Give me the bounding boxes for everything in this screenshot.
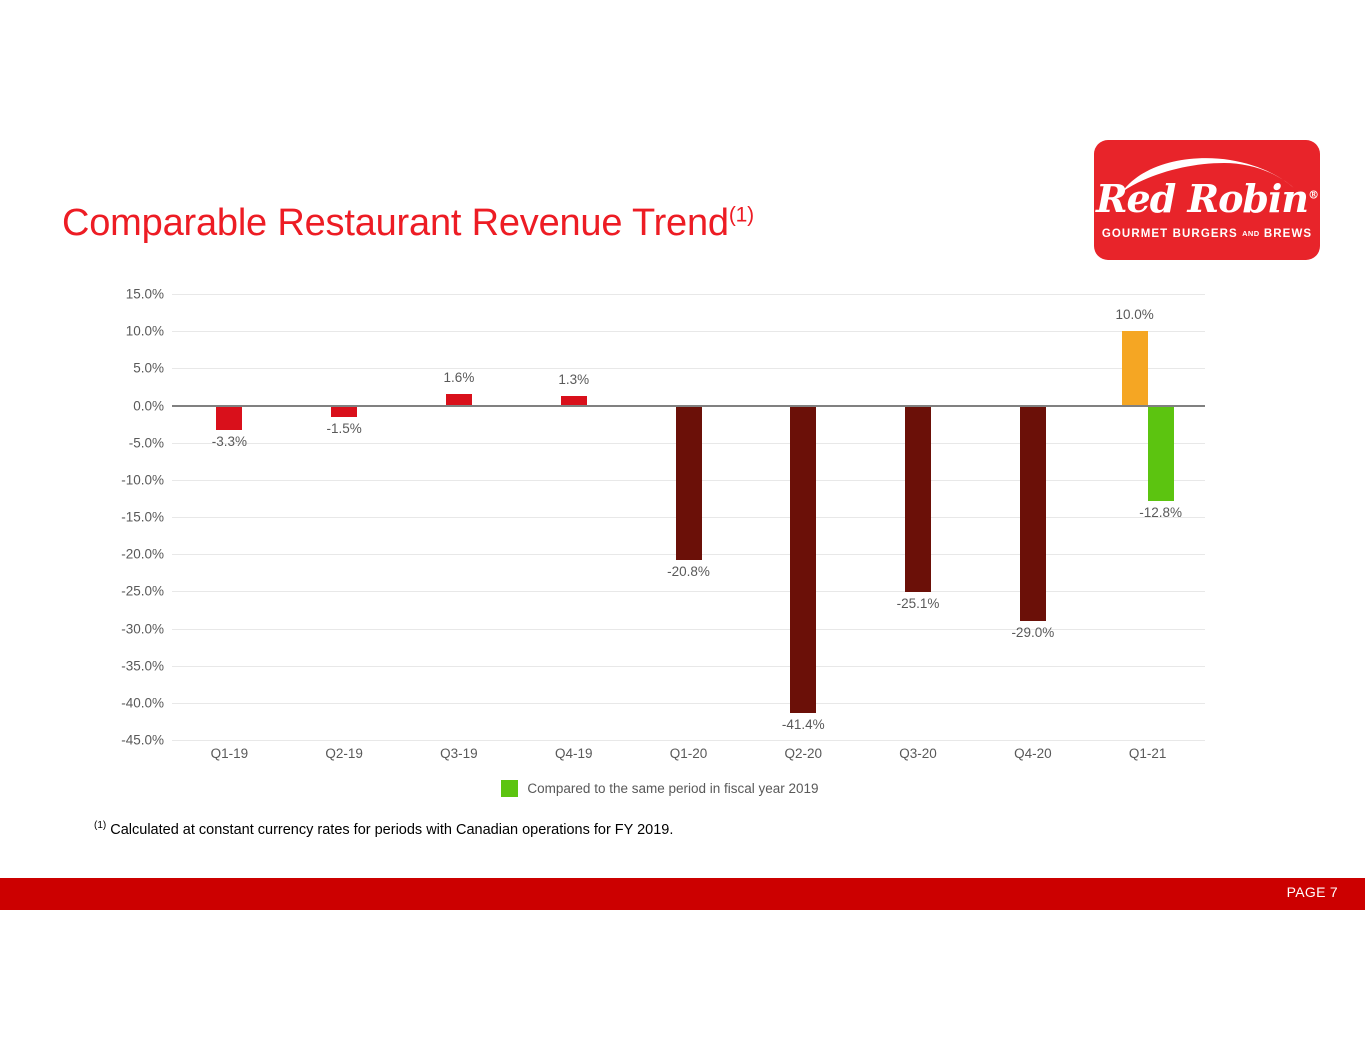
bar-value-label: -3.3% (212, 434, 247, 449)
red-robin-logo: Red Robin® GOURMET BURGERS AND BREWS (1094, 140, 1320, 260)
gridline (172, 703, 1205, 704)
chart-bar (1122, 331, 1148, 405)
slide: Comparable Restaurant Revenue Trend(1) R… (0, 0, 1365, 1055)
chart-bar (905, 406, 931, 593)
footnote-text: Calculated at constant currency rates fo… (106, 822, 673, 838)
logo-wordmark: Red Robin® (1094, 176, 1320, 221)
y-axis-tick-label: -10.0% (100, 472, 164, 487)
chart-bar (676, 406, 702, 561)
bar-value-label: -29.0% (1011, 625, 1054, 640)
gridline (172, 666, 1205, 667)
y-axis-tick-label: 5.0% (100, 361, 164, 376)
x-axis-tick-label: Q2-19 (284, 746, 404, 761)
chart-legend: Compared to the same period in fiscal ye… (100, 780, 1220, 797)
logo-tagline-and: AND (1242, 229, 1259, 238)
chart-plot-area: -3.3%-1.5%1.6%1.3%-20.8%-41.4%-25.1%-29.… (172, 294, 1205, 740)
legend-label-vs-fy2019: Compared to the same period in fiscal ye… (527, 781, 818, 796)
bar-value-label: 1.6% (444, 370, 475, 385)
y-axis-tick-label: -5.0% (100, 435, 164, 450)
bar-value-label: -41.4% (782, 717, 825, 732)
chart-bar (1020, 406, 1046, 622)
x-axis-tick-label: Q2-20 (743, 746, 863, 761)
y-axis-tick-label: -30.0% (100, 621, 164, 636)
y-axis-tick-label: -20.0% (100, 547, 164, 562)
bar-value-label: -1.5% (327, 421, 362, 436)
gridline (172, 368, 1205, 369)
gridline (172, 331, 1205, 332)
y-axis-tick-label: 15.0% (100, 287, 164, 302)
x-axis-tick-label: Q3-19 (399, 746, 519, 761)
page-title-superscript: (1) (729, 204, 754, 227)
chart-bar (216, 406, 242, 431)
gridline (172, 294, 1205, 295)
bar-value-label: -25.1% (897, 596, 940, 611)
legend-swatch-vs-fy2019 (501, 780, 518, 797)
logo-tagline-part2: BREWS (1260, 228, 1313, 240)
bar-value-label: 10.0% (1115, 307, 1153, 322)
y-axis-tick-label: 0.0% (100, 398, 164, 413)
x-axis-tick-label: Q1-20 (629, 746, 749, 761)
x-axis-tick-label: Q3-20 (858, 746, 978, 761)
page-title-text: Comparable Restaurant Revenue Trend (62, 202, 729, 244)
page-title: Comparable Restaurant Revenue Trend(1) (62, 203, 754, 245)
footnote: (1) Calculated at constant currency rate… (94, 822, 673, 838)
x-axis-tick-label: Q1-19 (169, 746, 289, 761)
bar-value-label: -12.8% (1139, 505, 1182, 520)
y-axis-tick-label: -35.0% (100, 658, 164, 673)
chart-bar (1148, 406, 1174, 501)
logo-tagline-part1: GOURMET BURGERS (1102, 228, 1242, 240)
y-axis-tick-label: -40.0% (100, 695, 164, 710)
revenue-trend-chart: -3.3%-1.5%1.6%1.3%-20.8%-41.4%-25.1%-29.… (100, 280, 1220, 780)
y-axis-tick-label: -45.0% (100, 733, 164, 748)
chart-bar (331, 406, 357, 417)
logo-tagline: GOURMET BURGERS AND BREWS (1094, 228, 1320, 240)
x-axis-tick-label: Q1-21 (1088, 746, 1208, 761)
x-axis-tick-label: Q4-20 (973, 746, 1093, 761)
bar-value-label: 1.3% (558, 372, 589, 387)
footer-bar: PAGE 7 (0, 878, 1365, 910)
y-axis-tick-label: -15.0% (100, 510, 164, 525)
y-axis-tick-label: -25.0% (100, 584, 164, 599)
chart-bar (790, 406, 816, 714)
y-axis-tick-label: 10.0% (100, 324, 164, 339)
gridline (172, 591, 1205, 592)
gridline (172, 740, 1205, 741)
x-axis-tick-label: Q4-19 (514, 746, 634, 761)
footnote-marker: (1) (94, 820, 106, 831)
logo-registered-mark: ® (1308, 188, 1318, 201)
logo-brand-text: Red Robin (1096, 176, 1308, 221)
page-number: PAGE 7 (1287, 884, 1338, 900)
bar-value-label: -20.8% (667, 564, 710, 579)
zero-axis-line (172, 405, 1205, 407)
